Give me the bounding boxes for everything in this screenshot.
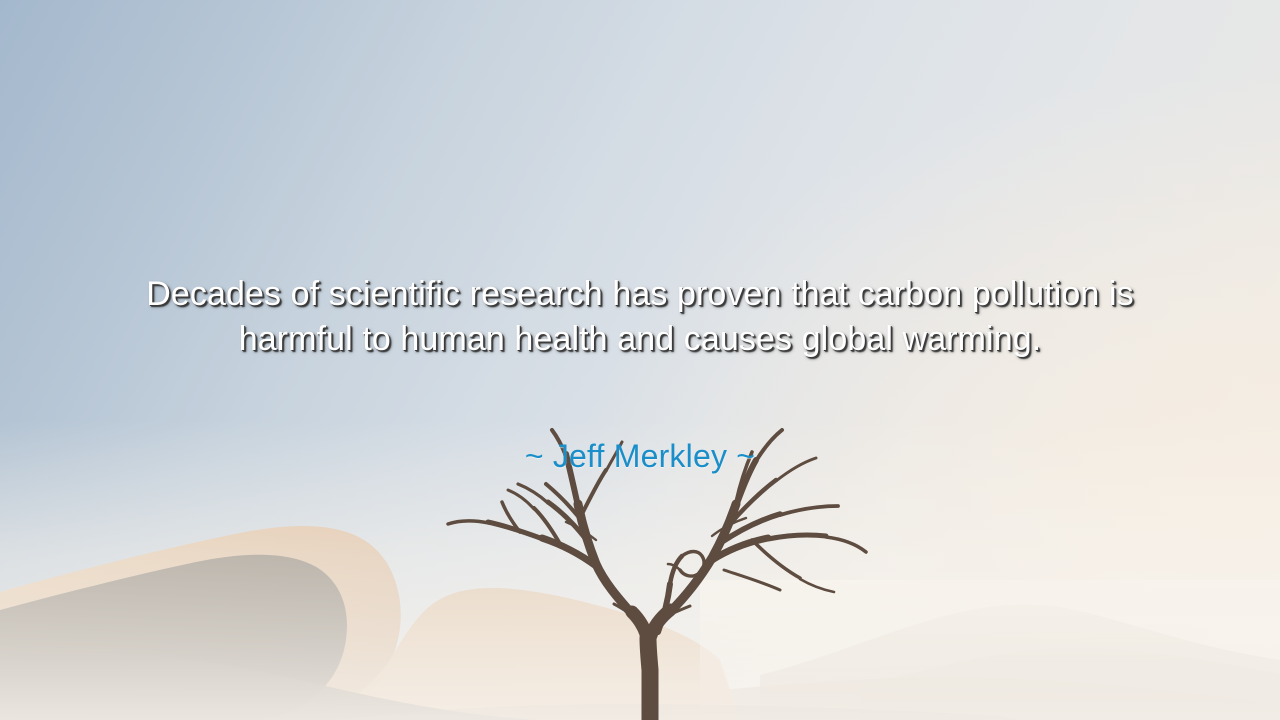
quote-image-scene: Decades of scientific research has prove… [0,0,1280,720]
quote-author: ~ Jeff Merkley ~ [0,437,1280,475]
quote-text-block: Decades of scientific research has prove… [0,272,1280,362]
quote-text: Decades of scientific research has prove… [120,272,1160,362]
